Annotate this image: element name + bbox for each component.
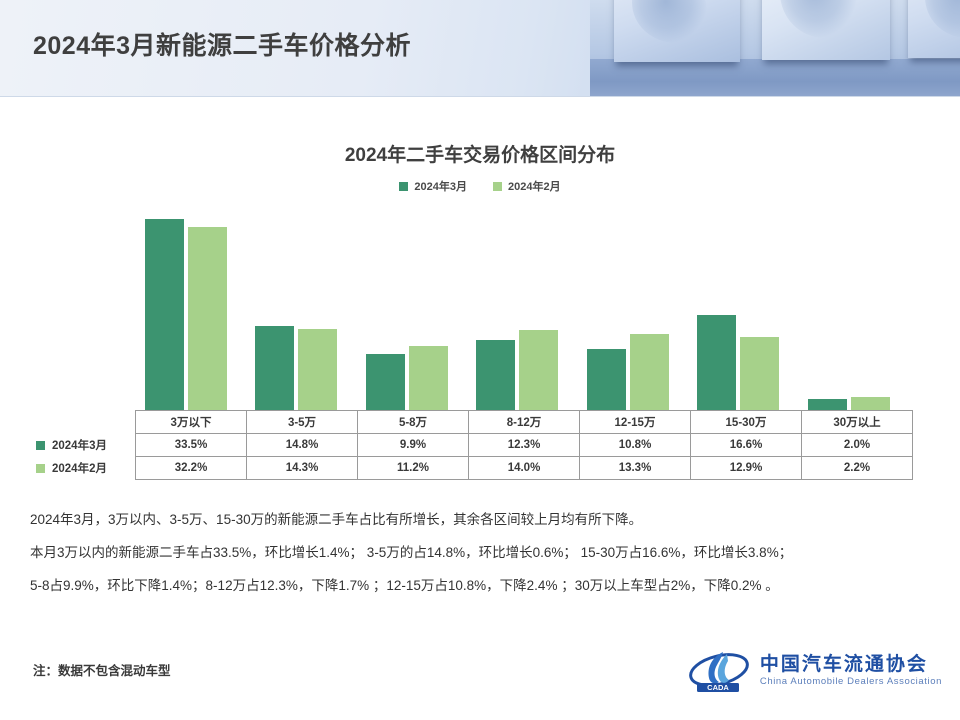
bar-group xyxy=(237,205,347,410)
table-cell-12-15万-2024年2月: 13.3% xyxy=(580,457,691,480)
bar-group xyxy=(790,205,900,410)
bar-group xyxy=(127,205,237,410)
bar-8-12万-2024年2月 xyxy=(519,330,558,410)
table-header-8-12万: 8-12万 xyxy=(469,411,580,434)
bar-8-12万-2024年3月 xyxy=(476,340,515,410)
cada-logo-text: 中国汽车流通协会 China Automobile Dealers Associ… xyxy=(760,655,942,687)
table-cell-30万以上-2024年3月: 2.0% xyxy=(802,434,913,457)
bar-group xyxy=(458,205,568,410)
table-row-label: 2024年2月 xyxy=(28,457,136,480)
table-cell-15-30万-2024年3月: 16.6% xyxy=(691,434,802,457)
table-header-3万以下: 3万以下 xyxy=(136,411,247,434)
legend-label-series-1: 2024年2月 xyxy=(508,178,561,194)
legend-item-series-1: 2024年2月 xyxy=(493,178,561,194)
bar-30万以上-2024年3月 xyxy=(808,399,847,410)
bar-group xyxy=(569,205,679,410)
legend-label-series-0: 2024年3月 xyxy=(414,178,467,194)
table-header-15-30万: 15-30万 xyxy=(691,411,802,434)
bar-3-5万-2024年3月 xyxy=(255,326,294,410)
cada-emblem-icon: CADA xyxy=(689,648,751,694)
legend-item-series-0: 2024年3月 xyxy=(399,178,467,194)
table-cell-5-8万-2024年2月: 11.2% xyxy=(358,457,469,480)
chart-title: 2024年二手车交易价格区间分布 xyxy=(0,140,960,167)
table-row-swatch xyxy=(36,441,45,450)
analysis-line-3: 5-8占9.9%，环比下降1.4%；8-12万占12.3%，下降1.7% ；12… xyxy=(30,569,935,602)
analysis-line-1: 2024年3月，3万以内、3-5万、15-30万的新能源二手车占比有所增长，其余… xyxy=(30,503,935,536)
table-header-30万以上: 30万以上 xyxy=(802,411,913,434)
header-image-floor xyxy=(590,59,960,97)
table-cell-12-15万-2024年3月: 10.8% xyxy=(580,434,691,457)
legend-swatch-series-1 xyxy=(493,182,502,191)
header-banner: 2024年3月新能源二手车价格分析 xyxy=(0,0,960,97)
page-title: 2024年3月新能源二手车价格分析 xyxy=(33,26,411,62)
chart-legend: 2024年3月 2024年2月 xyxy=(0,178,960,194)
cada-name-cn: 中国汽车流通协会 xyxy=(760,655,942,675)
table-row-swatch xyxy=(36,464,45,473)
price-distribution-table: 3万以下3-5万5-8万8-12万12-15万15-30万30万以上 2024年… xyxy=(28,410,913,480)
bar-15-30万-2024年2月 xyxy=(740,337,779,410)
table-row: 2024年3月33.5%14.8%9.9%12.3%10.8%16.6%2.0% xyxy=(28,434,913,457)
table-cell-3万以下-2024年2月: 32.2% xyxy=(136,457,247,480)
cada-abbr-text: CADA xyxy=(707,683,729,692)
header-divider xyxy=(0,96,960,97)
table-header-5-8万: 5-8万 xyxy=(358,411,469,434)
bar-5-8万-2024年3月 xyxy=(366,354,405,410)
bar-3-5万-2024年2月 xyxy=(298,329,337,410)
bar-3万以下-2024年3月 xyxy=(145,219,184,410)
table-cell-3-5万-2024年2月: 14.3% xyxy=(247,457,358,480)
decorative-cube-2 xyxy=(762,0,890,60)
table-cell-3万以下-2024年3月: 33.5% xyxy=(136,434,247,457)
bar-group xyxy=(348,205,458,410)
bar-12-15万-2024年3月 xyxy=(587,349,626,411)
cada-logo: CADA 中国汽车流通协会 China Automobile Dealers A… xyxy=(689,648,942,694)
table-cell-5-8万-2024年3月: 9.9% xyxy=(358,434,469,457)
analysis-text: 2024年3月，3万以内、3-5万、15-30万的新能源二手车占比有所增长，其余… xyxy=(30,503,935,602)
bar-5-8万-2024年2月 xyxy=(409,346,448,410)
decorative-cube-3 xyxy=(908,0,960,58)
header-decorative-image xyxy=(590,0,960,97)
data-table-container: 3万以下3-5万5-8万8-12万12-15万15-30万30万以上 2024年… xyxy=(28,410,913,480)
bar-15-30万-2024年3月 xyxy=(697,315,736,410)
cada-name-en: China Automobile Dealers Association xyxy=(760,677,942,687)
legend-swatch-series-0 xyxy=(399,182,408,191)
footer-note: 注：数据不包含混动车型 xyxy=(33,660,171,679)
bar-30万以上-2024年2月 xyxy=(851,397,890,410)
bar-group xyxy=(679,205,789,410)
table-cell-8-12万-2024年2月: 14.0% xyxy=(469,457,580,480)
table-header-row: 3万以下3-5万5-8万8-12万12-15万15-30万30万以上 xyxy=(28,411,913,434)
table-row: 2024年2月32.2%14.3%11.2%14.0%13.3%12.9%2.2… xyxy=(28,457,913,480)
bar-chart-plot-area xyxy=(127,205,900,410)
bar-12-15万-2024年2月 xyxy=(630,334,669,410)
table-header-12-15万: 12-15万 xyxy=(580,411,691,434)
table-cell-3-5万-2024年3月: 14.8% xyxy=(247,434,358,457)
table-corner-cell xyxy=(28,411,136,434)
table-cell-30万以上-2024年2月: 2.2% xyxy=(802,457,913,480)
bar-3万以下-2024年2月 xyxy=(188,227,227,410)
decorative-cube-1 xyxy=(614,0,740,62)
table-row-label: 2024年3月 xyxy=(28,434,136,457)
table-header-3-5万: 3-5万 xyxy=(247,411,358,434)
analysis-line-2: 本月3万以内的新能源二手车占33.5%，环比增长1.4%； 3-5万的占14.8… xyxy=(30,536,935,569)
table-cell-15-30万-2024年2月: 12.9% xyxy=(691,457,802,480)
table-cell-8-12万-2024年3月: 12.3% xyxy=(469,434,580,457)
